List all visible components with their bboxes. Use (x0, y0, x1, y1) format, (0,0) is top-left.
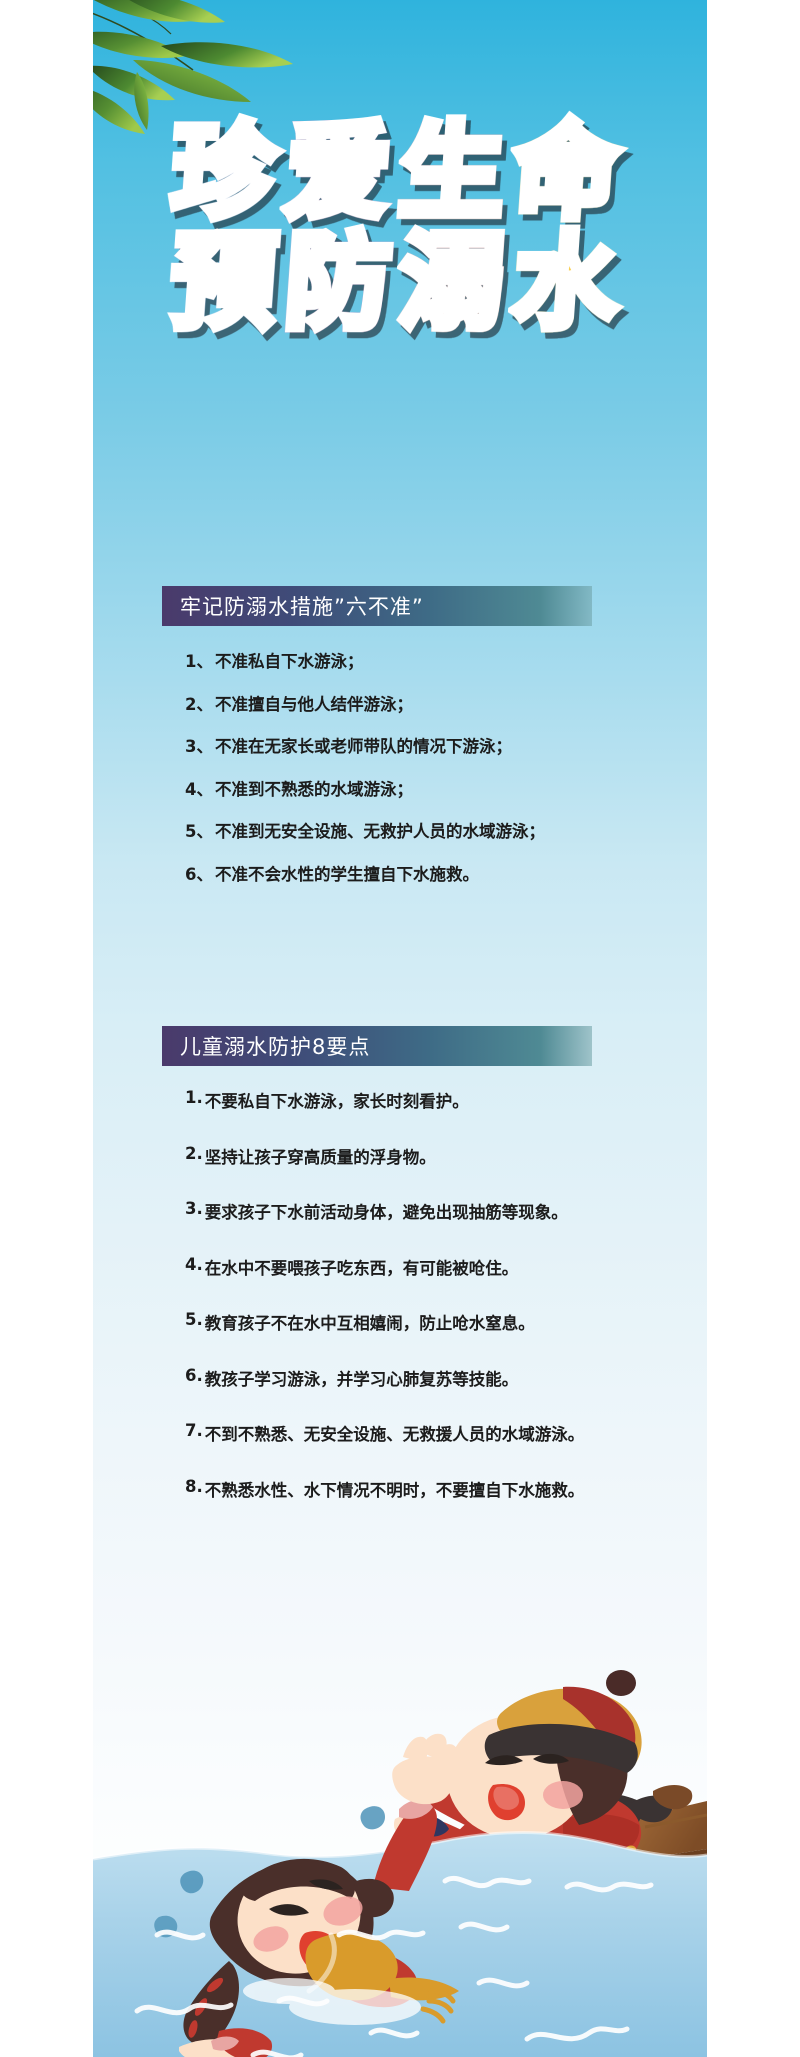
section-1-banner: 牢记防溺水措施”六不准” (162, 586, 592, 626)
prohibition-item-text: 不准到不熟悉的水域游泳； (215, 776, 413, 800)
safety-point-item-text: 教孩子学习游泳，并学习心肺复苏等技能。 (205, 1366, 519, 1390)
safety-point-item-number: 6. (185, 1366, 203, 1385)
poster-root: 珍爱生命 预防溺水 牢记防溺水措施”六不准” 1、不准私自下水游泳；2、不准擅自… (93, 0, 707, 2057)
section-1-heading: 牢记防溺水措施”六不准” (162, 591, 424, 621)
title-char: 命 (510, 120, 631, 224)
prohibition-item: 3、不准在无家长或老师带队的情况下游泳； (185, 733, 685, 776)
title-char: 溺 (396, 230, 517, 334)
safety-point-item: 1.不要私自下水游泳，家长时刻看护。 (185, 1088, 685, 1144)
safety-point-item-text: 在水中不要喂孩子吃东西，有可能被呛住。 (205, 1255, 519, 1279)
safety-point-item-text: 不熟悉水性、水下情况不明时，不要擅自下水施救。 (205, 1477, 585, 1501)
title-char: 爱 (282, 120, 403, 224)
prohibition-item-text: 不准到无安全设施、无救护人员的水域游泳； (215, 818, 545, 842)
prohibition-item-text: 不准在无家长或老师带队的情况下游泳； (215, 733, 512, 757)
prohibition-item: 6、不准不会水性的学生擅自下水施救。 (185, 861, 685, 904)
safety-point-item-text: 不到不熟悉、无安全设施、无救援人员的水域游泳。 (205, 1421, 585, 1445)
safety-point-item: 8.不熟悉水性、水下情况不明时，不要擅自下水施救。 (185, 1477, 685, 1533)
safety-point-item-number: 5. (185, 1310, 203, 1329)
safety-point-item: 3.要求孩子下水前活动身体，避免出现抽筋等现象。 (185, 1199, 685, 1255)
safety-point-item-number: 3. (185, 1199, 203, 1218)
prohibition-item-number: 1、 (185, 648, 213, 672)
title-line-1: 珍爱生命 (93, 120, 707, 224)
title-char: 生 (396, 120, 517, 224)
safety-point-item-number: 2. (185, 1144, 203, 1163)
prohibition-item-number: 3、 (185, 733, 213, 757)
prohibition-item: 4、不准到不熟悉的水域游泳； (185, 776, 685, 819)
prohibition-item-text: 不准私自下水游泳； (215, 648, 364, 672)
prohibition-item-number: 4、 (185, 776, 213, 800)
section-2-heading: 儿童溺水防护8要点 (162, 1031, 370, 1061)
safety-point-item-number: 4. (185, 1255, 203, 1274)
safety-point-item-text: 坚持让孩子穿高质量的浮身物。 (205, 1144, 436, 1168)
title-char: 预 (168, 230, 289, 334)
prohibition-item-number: 5、 (185, 818, 213, 842)
safety-point-item: 4.在水中不要喂孩子吃东西，有可能被呛住。 (185, 1255, 685, 1311)
prohibition-item-number: 6、 (185, 861, 213, 885)
safety-point-item-number: 1. (185, 1088, 203, 1107)
title-char: 水 (510, 230, 631, 334)
safety-point-item: 7.不到不熟悉、无安全设施、无救援人员的水域游泳。 (185, 1421, 685, 1477)
prohibition-item: 1、不准私自下水游泳； (185, 648, 685, 691)
eight-points-list: 1.不要私自下水游泳，家长时刻看护。2.坚持让孩子穿高质量的浮身物。3.要求孩子… (185, 1088, 685, 1532)
safety-point-item-text: 要求孩子下水前活动身体，避免出现抽筋等现象。 (205, 1199, 568, 1223)
title-line-2: 预防溺水 (93, 230, 707, 334)
prohibition-item: 2、不准擅自与他人结伴游泳； (185, 691, 685, 734)
safety-point-item-text: 不要私自下水游泳，家长时刻看护。 (205, 1088, 469, 1112)
safety-point-item-number: 8. (185, 1477, 203, 1496)
six-prohibitions-list: 1、不准私自下水游泳；2、不准擅自与他人结伴游泳；3、不准在无家长或老师带队的情… (185, 648, 685, 903)
section-2-banner: 儿童溺水防护8要点 (162, 1026, 592, 1066)
safety-point-item: 2.坚持让孩子穿高质量的浮身物。 (185, 1144, 685, 1200)
title-char: 珍 (168, 120, 289, 224)
drowning-rescue-illustration (93, 1587, 707, 2057)
prohibition-item: 5、不准到无安全设施、无救护人员的水域游泳； (185, 818, 685, 861)
safety-point-item: 6.教孩子学习游泳，并学习心肺复苏等技能。 (185, 1366, 685, 1422)
safety-point-item-number: 7. (185, 1421, 203, 1440)
title-char: 防 (282, 230, 403, 334)
prohibition-item-number: 2、 (185, 691, 213, 715)
safety-point-item: 5.教育孩子不在水中互相嬉闹，防止呛水窒息。 (185, 1310, 685, 1366)
poster-title: 珍爱生命 预防溺水 (93, 120, 707, 334)
prohibition-item-text: 不准不会水性的学生擅自下水施救。 (215, 861, 479, 885)
safety-point-item-text: 教育孩子不在水中互相嬉闹，防止呛水窒息。 (205, 1310, 535, 1334)
prohibition-item-text: 不准擅自与他人结伴游泳； (215, 691, 413, 715)
